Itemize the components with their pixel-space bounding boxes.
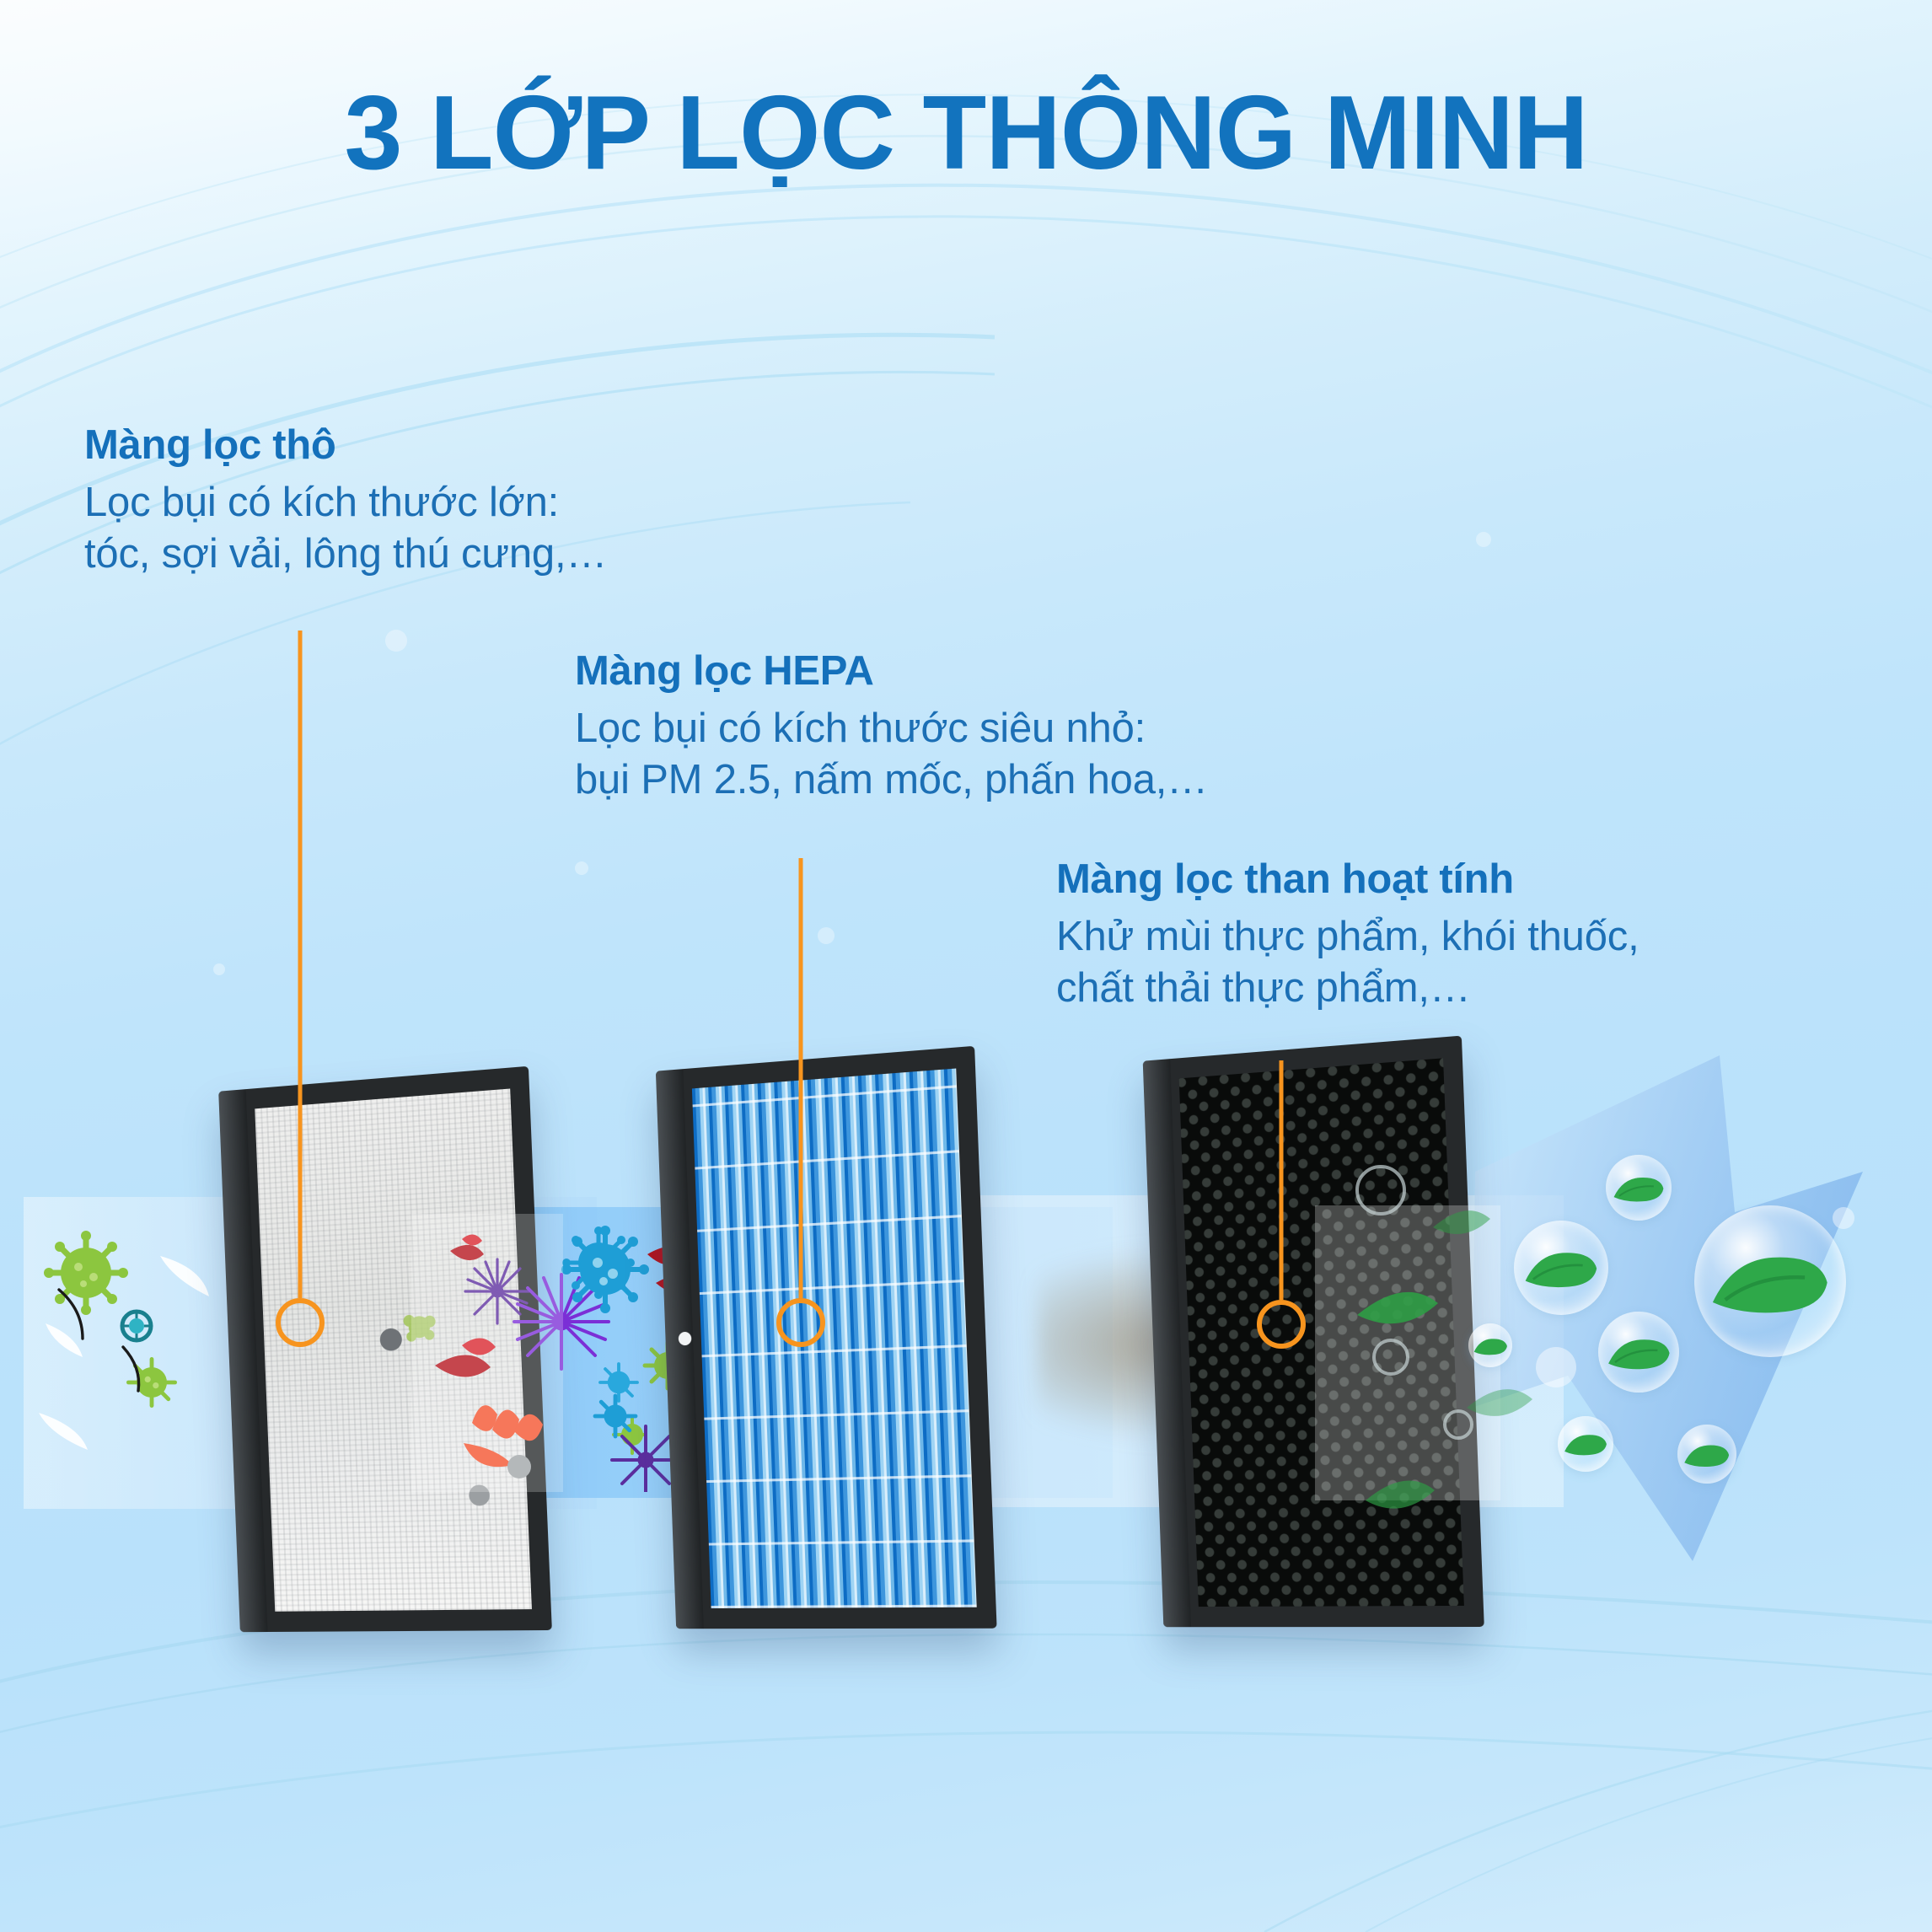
leaf-in-bubble-icon xyxy=(1598,1312,1679,1393)
leader-ring xyxy=(276,1298,325,1347)
leaf-in-bubble-icon xyxy=(1694,1205,1846,1357)
leaf-icon xyxy=(1473,1336,1509,1356)
leaf-icon xyxy=(1682,1441,1731,1468)
hepa-filter-panel xyxy=(656,1046,997,1629)
label-line: Khử mùi thực phẩm, khói thuốc, xyxy=(1056,911,1640,963)
hepa-pleated-media xyxy=(692,1069,977,1608)
leader-stem xyxy=(1280,1060,1284,1300)
bubble-highlight xyxy=(1536,1347,1576,1387)
leader-line-coarse xyxy=(275,631,325,1347)
label-line: Lọc bụi có kích thước lớn: xyxy=(84,477,607,529)
page-title: 3 LỚP LỌC THÔNG MINH xyxy=(0,81,1932,185)
leaf-in-bubble-icon xyxy=(1468,1323,1512,1367)
leaf-in-bubble-icon xyxy=(1514,1221,1608,1315)
leaf-in-bubble-icon xyxy=(1558,1416,1613,1472)
label-line: tóc, sợi vải, lông thú cưng,… xyxy=(84,529,607,580)
leader-stem xyxy=(298,631,303,1298)
label-heading-coarse: Màng lọc thô xyxy=(84,421,607,470)
leaf-in-bubble-icon xyxy=(1606,1155,1672,1221)
label-block-hepa: Màng lọc HEPA Lọc bụi có kích thước siêu… xyxy=(575,647,1208,805)
label-heading-hepa: Màng lọc HEPA xyxy=(575,647,1208,696)
leaf-icon xyxy=(1612,1173,1666,1204)
label-block-coarse: Màng lọc thô Lọc bụi có kích thước lớn: … xyxy=(84,421,607,579)
label-block-carbon: Màng lọc than hoạt tính Khử mùi thực phẩ… xyxy=(1056,856,1640,1013)
label-line: Lọc bụi có kích thước siêu nhỏ: xyxy=(575,703,1208,754)
leaf-icon xyxy=(1522,1247,1600,1291)
leader-line-carbon xyxy=(1256,1060,1307,1349)
leaf-icon xyxy=(1708,1248,1833,1318)
label-body-coarse: Lọc bụi có kích thước lớn: tóc, sợi vải,… xyxy=(84,477,607,580)
label-line: bụi PM 2.5, nấm mốc, phấn hoa,… xyxy=(575,754,1208,806)
leader-ring xyxy=(776,1298,825,1347)
leaf-icon xyxy=(1606,1334,1672,1371)
leaf-cluster-on-carbon xyxy=(1340,1146,1534,1585)
leader-ring xyxy=(1257,1300,1306,1349)
label-heading-carbon: Màng lọc than hoạt tính xyxy=(1056,856,1640,904)
label-line: chất thải thực phẩm,… xyxy=(1056,963,1640,1014)
bubble-highlight xyxy=(1833,1207,1854,1229)
leader-line-hepa xyxy=(775,858,826,1347)
label-body-hepa: Lọc bụi có kích thước siêu nhỏ: bụi PM 2… xyxy=(575,703,1208,806)
leader-stem xyxy=(799,858,803,1298)
leaf-in-bubble-icon xyxy=(1677,1425,1736,1484)
leaf-icon xyxy=(1563,1431,1608,1457)
label-body-carbon: Khử mùi thực phẩm, khói thuốc, chất thải… xyxy=(1056,911,1640,1014)
